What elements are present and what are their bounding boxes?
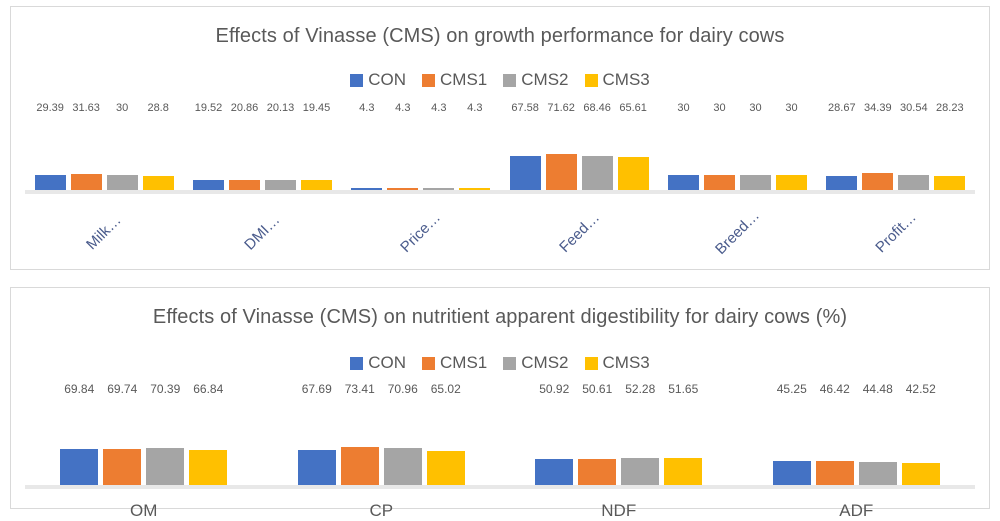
bar-con[interactable] <box>773 461 811 485</box>
legend-item-label: CON <box>368 353 406 373</box>
bar-value-label: 28.23 <box>936 102 964 114</box>
bar-con[interactable] <box>510 156 541 190</box>
category-label-cell: ADF <box>738 501 976 521</box>
x-axis-line <box>25 485 975 489</box>
bar-value-label: 4.3 <box>431 102 446 114</box>
category-label: ADF <box>839 501 873 521</box>
bar-value-label: 4.3 <box>359 102 374 114</box>
bar-con[interactable] <box>535 459 573 485</box>
bar-column: 51.65 <box>664 401 702 485</box>
bar-cms3[interactable] <box>618 157 649 190</box>
bar-column: 19.52 <box>193 118 224 190</box>
bar-group: 19.5220.8620.1319.45 <box>183 118 341 190</box>
category-label: DMI… <box>241 211 283 253</box>
category-label: Price… <box>397 209 444 256</box>
bar-value-label: 19.52 <box>195 102 223 114</box>
plot-area-growth: 29.3931.633028.819.5220.8620.1319.454.34… <box>25 118 975 190</box>
bar-value-label: 50.92 <box>539 382 569 396</box>
chart-legend-growth: CONCMS1CMS2CMS3 <box>11 70 989 90</box>
bar-cms3[interactable] <box>301 180 332 190</box>
bar-cms2[interactable] <box>859 462 897 485</box>
bar-group: 4.34.34.34.3 <box>342 118 500 190</box>
bar-cms3[interactable] <box>189 450 227 485</box>
bar-cms1[interactable] <box>229 180 260 190</box>
bar-column: 67.69 <box>298 401 336 485</box>
bar-cms3[interactable] <box>776 175 807 190</box>
bar-cms2[interactable] <box>107 175 138 190</box>
category-label-cell: DMI… <box>183 210 341 270</box>
bar-column: 4.3 <box>459 118 490 190</box>
bar-con[interactable] <box>35 175 66 190</box>
bar-column: 34.39 <box>862 118 893 190</box>
bar-column: 28.8 <box>143 118 174 190</box>
bar-con[interactable] <box>60 449 98 485</box>
legend-item-cms1[interactable]: CMS1 <box>422 70 487 90</box>
legend-item-cms3[interactable]: CMS3 <box>585 70 650 90</box>
category-label-cell: CP <box>263 501 501 521</box>
bar-column: 69.84 <box>60 401 98 485</box>
bar-value-label: 73.41 <box>345 382 375 396</box>
bar-cms2[interactable] <box>384 448 422 485</box>
bar-value-label: 30 <box>785 102 797 114</box>
bar-value-label: 4.3 <box>467 102 482 114</box>
bar-cluster: 28.6734.3930.5428.23 <box>826 118 965 190</box>
bar-cms3[interactable] <box>143 176 174 190</box>
legend-item-label: CMS1 <box>440 70 487 90</box>
bar-value-label: 66.84 <box>193 382 223 396</box>
category-label: OM <box>130 501 157 521</box>
bar-cms1[interactable] <box>816 461 854 485</box>
bar-cms2[interactable] <box>146 448 184 485</box>
bar-column: 30 <box>704 118 735 190</box>
bar-value-label: 30 <box>116 102 128 114</box>
bar-con[interactable] <box>668 175 699 190</box>
bar-value-label: 29.39 <box>36 102 64 114</box>
bar-column: 50.92 <box>535 401 573 485</box>
bar-value-label: 19.45 <box>303 102 331 114</box>
bar-cluster: 50.9250.6152.2851.65 <box>535 401 702 485</box>
category-label-cell: OM <box>25 501 263 521</box>
chart-title-growth-performance: Effects of Vinasse (CMS) on growth perfo… <box>11 7 989 48</box>
bar-value-label: 50.61 <box>582 382 612 396</box>
bar-con[interactable] <box>298 450 336 485</box>
bar-cluster: 45.2546.4244.4842.52 <box>773 401 940 485</box>
bar-value-label: 51.65 <box>668 382 698 396</box>
category-label: NDF <box>601 501 636 521</box>
bar-cms3[interactable] <box>902 463 940 485</box>
bar-value-label: 42.52 <box>906 382 936 396</box>
legend-swatch-icon <box>422 357 435 370</box>
bar-value-label: 30 <box>713 102 725 114</box>
bar-cluster: 67.6973.4170.9665.02 <box>298 401 465 485</box>
bar-cms2[interactable] <box>740 175 771 190</box>
category-label: Milk… <box>83 212 124 253</box>
bar-cluster: 29.3931.633028.8 <box>35 118 174 190</box>
bar-cms2[interactable] <box>265 180 296 190</box>
legend-item-cms2[interactable]: CMS2 <box>503 70 568 90</box>
category-label: CP <box>369 501 393 521</box>
chart-panel-growth-performance: Effects of Vinasse (CMS) on growth perfo… <box>10 6 990 270</box>
bar-cms1[interactable] <box>341 447 379 485</box>
plot-area-digestibility: 69.8469.7470.3966.8467.6973.4170.9665.02… <box>25 401 975 485</box>
bar-value-label: 28.8 <box>147 102 168 114</box>
category-axis-growth: Milk…DMI…Price…Feed…Breed…Profit… <box>25 210 975 270</box>
bar-group: 30303030 <box>658 118 816 190</box>
bar-column: 69.74 <box>103 401 141 485</box>
bar-column: 42.52 <box>902 401 940 485</box>
chart-legend-digestibility: CONCMS1CMS2CMS3 <box>11 353 989 373</box>
bar-value-label: 34.39 <box>864 102 892 114</box>
bar-value-label: 70.39 <box>150 382 180 396</box>
bar-column: 46.42 <box>816 401 854 485</box>
bar-column: 65.02 <box>427 401 465 485</box>
bar-cms2[interactable] <box>621 458 659 485</box>
bar-column: 4.3 <box>351 118 382 190</box>
bar-column: 65.61 <box>618 118 649 190</box>
bar-column: 45.25 <box>773 401 811 485</box>
chart-title-digestibility: Effects of Vinasse (CMS) on nutritient a… <box>11 288 989 329</box>
x-axis-line <box>25 190 975 194</box>
bar-column: 30.54 <box>898 118 929 190</box>
bar-column: 28.67 <box>826 118 857 190</box>
bar-cms1[interactable] <box>103 449 141 485</box>
bar-cms2[interactable] <box>582 156 613 190</box>
legend-item-label: CMS2 <box>521 70 568 90</box>
legend-item-cms2[interactable]: CMS2 <box>503 353 568 373</box>
bar-column: 30 <box>740 118 771 190</box>
legend-item-label: CMS3 <box>603 70 650 90</box>
category-label-cell: Feed… <box>500 210 658 270</box>
legend-swatch-icon <box>585 357 598 370</box>
bar-column: 19.45 <box>301 118 332 190</box>
bar-column: 4.3 <box>387 118 418 190</box>
bar-group: 28.6734.3930.5428.23 <box>817 118 975 190</box>
bar-value-label: 65.02 <box>431 382 461 396</box>
category-label-cell: NDF <box>500 501 738 521</box>
bar-column: 70.96 <box>384 401 422 485</box>
bar-value-label: 46.42 <box>820 382 850 396</box>
bar-cms1[interactable] <box>578 459 616 485</box>
legend-item-cms3[interactable]: CMS3 <box>585 353 650 373</box>
bar-value-label: 30 <box>677 102 689 114</box>
legend-item-label: CON <box>368 70 406 90</box>
bar-value-label: 52.28 <box>625 382 655 396</box>
bar-value-label: 70.96 <box>388 382 418 396</box>
bar-value-label: 45.25 <box>777 382 807 396</box>
legend-item-label: CMS1 <box>440 353 487 373</box>
legend-swatch-icon <box>585 74 598 87</box>
bar-column: 52.28 <box>621 401 659 485</box>
bar-con[interactable] <box>193 180 224 190</box>
bar-value-label: 30 <box>749 102 761 114</box>
legend-swatch-icon <box>350 357 363 370</box>
bar-value-label: 69.74 <box>107 382 137 396</box>
bar-column: 73.41 <box>341 401 379 485</box>
bar-value-label: 69.84 <box>64 382 94 396</box>
bar-cluster: 67.5871.6268.4665.61 <box>510 118 649 190</box>
bar-cms1[interactable] <box>862 173 893 190</box>
bar-column: 20.13 <box>265 118 296 190</box>
category-label: Breed… <box>712 207 763 258</box>
legend-swatch-icon <box>503 74 516 87</box>
category-label: Profit… <box>872 209 919 256</box>
bar-group: 50.9250.6152.2851.65 <box>500 401 738 485</box>
bar-value-label: 65.61 <box>619 102 647 114</box>
legend-swatch-icon <box>350 74 363 87</box>
bar-column: 70.39 <box>146 401 184 485</box>
bar-cluster: 4.34.34.34.3 <box>351 118 490 190</box>
bar-column: 67.58 <box>510 118 541 190</box>
bar-column: 68.46 <box>582 118 613 190</box>
bar-value-label: 67.58 <box>511 102 539 114</box>
bar-column: 20.86 <box>229 118 260 190</box>
legend-item-cms1[interactable]: CMS1 <box>422 353 487 373</box>
category-label-cell: Profit… <box>817 210 975 270</box>
bar-con[interactable] <box>826 176 857 190</box>
legend-item-con[interactable]: CON <box>350 70 406 90</box>
bar-group: 67.5871.6268.4665.61 <box>500 118 658 190</box>
bar-column: 30 <box>668 118 699 190</box>
bar-column: 50.61 <box>578 401 616 485</box>
category-label-cell: Breed… <box>658 210 816 270</box>
bar-cms3[interactable] <box>934 176 965 190</box>
legend-item-label: CMS3 <box>603 353 650 373</box>
bar-cms3[interactable] <box>664 458 702 485</box>
bar-column: 29.39 <box>35 118 66 190</box>
bar-value-label: 68.46 <box>583 102 611 114</box>
bar-group: 45.2546.4244.4842.52 <box>738 401 976 485</box>
legend-swatch-icon <box>503 357 516 370</box>
category-axis-digestibility: OMCPNDFADF <box>25 501 975 521</box>
bar-cms3[interactable] <box>427 451 465 485</box>
bar-column: 44.48 <box>859 401 897 485</box>
charts-page: Effects of Vinasse (CMS) on growth perfo… <box>0 0 1000 513</box>
bar-column: 28.23 <box>934 118 965 190</box>
bar-column: 71.62 <box>546 118 577 190</box>
bar-value-label: 4.3 <box>395 102 410 114</box>
bar-column: 66.84 <box>189 401 227 485</box>
legend-swatch-icon <box>422 74 435 87</box>
category-label: Feed… <box>556 209 603 256</box>
category-label-cell: Milk… <box>25 210 183 270</box>
bar-cluster: 69.8469.7470.3966.84 <box>60 401 227 485</box>
bar-group: 29.3931.633028.8 <box>25 118 183 190</box>
chart-panel-digestibility: Effects of Vinasse (CMS) on nutritient a… <box>10 287 990 509</box>
legend-item-con[interactable]: CON <box>350 353 406 373</box>
bar-cluster: 30303030 <box>668 118 807 190</box>
bar-cluster: 19.5220.8620.1319.45 <box>193 118 332 190</box>
bar-value-label: 30.54 <box>900 102 928 114</box>
bar-cms2[interactable] <box>898 175 929 190</box>
legend-item-label: CMS2 <box>521 353 568 373</box>
bar-value-label: 44.48 <box>863 382 893 396</box>
bar-value-label: 31.63 <box>72 102 100 114</box>
bar-cms1[interactable] <box>704 175 735 190</box>
bar-column: 4.3 <box>423 118 454 190</box>
bar-group: 67.6973.4170.9665.02 <box>263 401 501 485</box>
bar-value-label: 67.69 <box>302 382 332 396</box>
bar-value-label: 20.86 <box>231 102 259 114</box>
bar-cms1[interactable] <box>71 174 102 190</box>
bar-group: 69.8469.7470.3966.84 <box>25 401 263 485</box>
bar-value-label: 28.67 <box>828 102 856 114</box>
bar-value-label: 20.13 <box>267 102 295 114</box>
bar-cms1[interactable] <box>546 154 577 190</box>
bar-value-label: 71.62 <box>547 102 575 114</box>
bar-column: 31.63 <box>71 118 102 190</box>
category-label-cell: Price… <box>342 210 500 270</box>
bar-column: 30 <box>776 118 807 190</box>
bar-column: 30 <box>107 118 138 190</box>
